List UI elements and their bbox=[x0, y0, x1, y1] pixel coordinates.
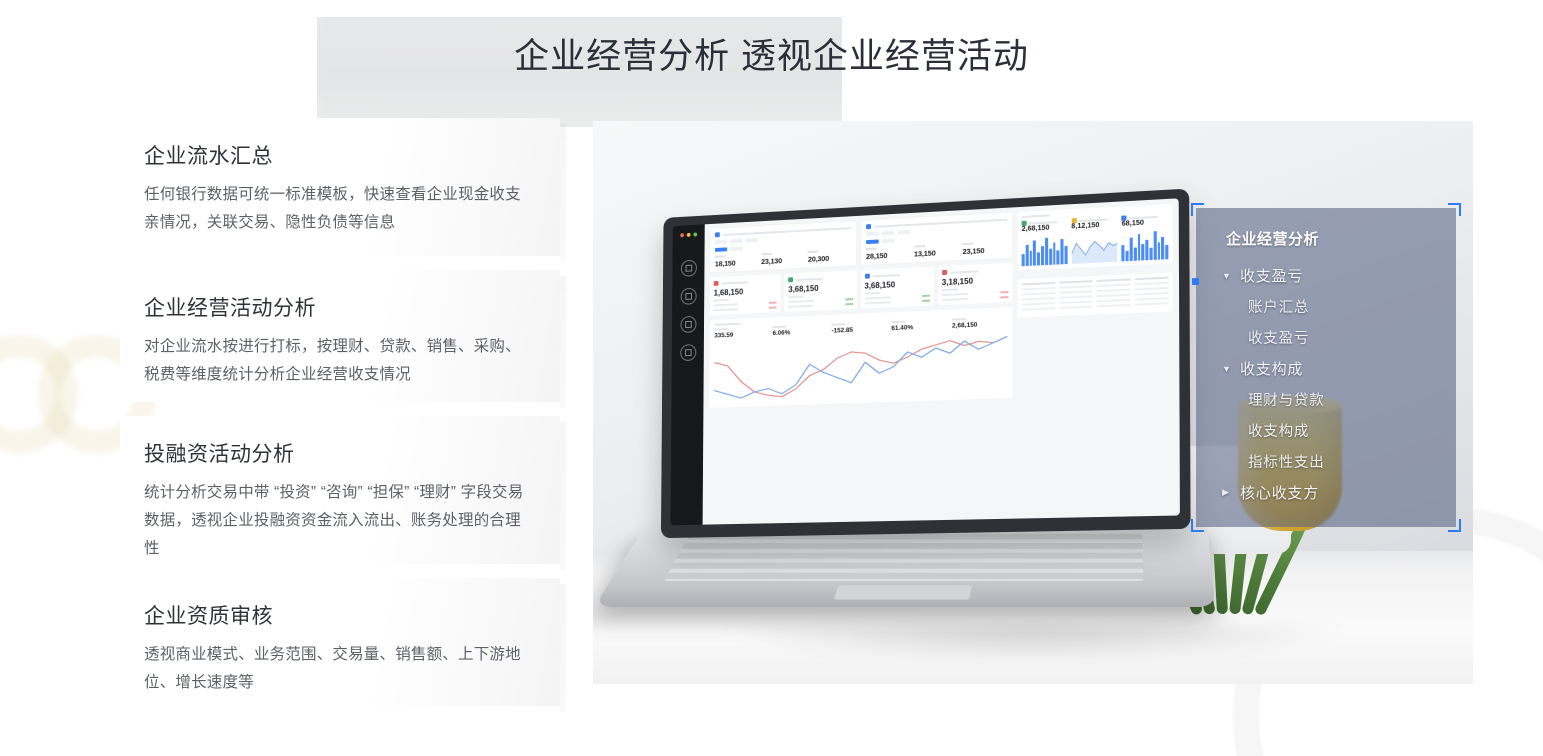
feature-card-title: 企业流水汇总 bbox=[144, 140, 536, 170]
mini-card-value: 2,68,150 bbox=[1022, 224, 1068, 233]
page-root: 企业经营分析 透视企业经营活动 企业流水汇总 任何银行数据可统一标准模板，快速查… bbox=[0, 0, 1543, 756]
metric-card[interactable]: 3,68,150 bbox=[860, 266, 933, 308]
resize-handle-top-left[interactable] bbox=[1191, 203, 1204, 216]
dashboard-icon[interactable] bbox=[680, 260, 696, 277]
menu-item[interactable]: 指标性支出 bbox=[1222, 446, 1446, 477]
sparkline-area bbox=[1071, 231, 1117, 264]
dashboard-body: 18,150 23,130 20,300 bbox=[703, 198, 1180, 524]
menu-item-label: 指标性支出 bbox=[1248, 451, 1325, 472]
metric-card-value: 1,68,150 bbox=[714, 286, 777, 298]
feature-card-desc: 任何银行数据可统一标准模板，快速查看企业现金收支亲情况，关联交易、隐性负债等信息 bbox=[144, 181, 536, 237]
menu-item-label: 收支盈亏 bbox=[1240, 265, 1303, 286]
laptop-trackpad bbox=[834, 585, 972, 599]
summary-metric: 335.59 bbox=[714, 326, 766, 339]
feature-card[interactable]: 投融资活动分析 统计分析交易中带 “投资” “咨询” “担保” “理财” 字段交… bbox=[120, 416, 560, 564]
feature-card-list: 企业流水汇总 任何银行数据可统一标准模板，快速查看企业现金收支亲情况，关联交易、… bbox=[120, 118, 560, 720]
chevron-right-icon[interactable]: ▶ bbox=[1222, 487, 1232, 498]
overlay-title: 企业经营分析 bbox=[1226, 228, 1319, 249]
mini-card-value: 8,12,150 bbox=[1071, 221, 1117, 231]
feature-card-title: 企业经营活动分析 bbox=[144, 292, 536, 322]
menu-item-label: 核心收支方 bbox=[1240, 482, 1319, 503]
gear-icon[interactable] bbox=[680, 344, 696, 361]
menu-item-label: 收支构成 bbox=[1240, 358, 1303, 379]
overlay-menu-list: ▼ 收支盈亏 账户汇总 收支盈亏 ▼ 收支构成 理财与贷款 收支构成 指标性支出 bbox=[1222, 260, 1446, 508]
metric-card-value: 3,68,150 bbox=[788, 282, 852, 294]
close-icon[interactable] bbox=[680, 233, 684, 237]
summary-metric-value: -152.85 bbox=[832, 325, 886, 334]
menu-item[interactable]: 收支盈亏 bbox=[1222, 322, 1446, 353]
summary-metric-value: 335.59 bbox=[714, 330, 766, 339]
menu-item[interactable]: 账户汇总 bbox=[1222, 291, 1446, 322]
kpi-value: 13,150 bbox=[914, 247, 959, 258]
menu-item-label: 收支构成 bbox=[1248, 420, 1309, 441]
laptop-screen: 18,150 23,130 20,300 bbox=[670, 198, 1179, 525]
summary-metrics-panel: 335.59 6.06% -152.85 61.40% 2,68,150 bbox=[709, 307, 1012, 408]
page-title: 企业经营分析 透视企业经营活动 bbox=[0, 28, 1543, 79]
desk-shadow bbox=[653, 626, 1413, 678]
sparkline-bars bbox=[1022, 234, 1068, 267]
kpi-item: 18,150 bbox=[715, 254, 758, 269]
mini-card-value: 68,150 bbox=[1122, 218, 1169, 228]
metric-card[interactable]: 1,68,150 bbox=[710, 274, 781, 315]
resize-handle-bottom-left[interactable] bbox=[1191, 519, 1204, 532]
kpi-value: 23,130 bbox=[761, 255, 804, 266]
dashboard-right-column: 2,68,150 8,12,150 bbox=[1018, 204, 1174, 398]
feature-card[interactable]: 企业资质审核 透视商业模式、业务范围、交易量、销售额、上下游地位、增长速度等 bbox=[120, 578, 560, 706]
metric-card-value: 3,18,150 bbox=[942, 275, 1009, 287]
menu-item-group[interactable]: ▶ 核心收支方 bbox=[1222, 477, 1446, 508]
feature-card-desc: 对企业流水按进行打标，按理财、贷款、销售、采购、税费等维度统计分析企业经营收支情… bbox=[144, 333, 536, 389]
menu-item[interactable]: 收支构成 bbox=[1222, 415, 1446, 446]
summary-metric-value: 2,68,150 bbox=[952, 320, 1007, 329]
kpi-panel-right: 28,150 13,150 23,150 bbox=[861, 212, 1012, 265]
mini-card[interactable]: 8,12,150 bbox=[1071, 216, 1117, 264]
feature-card-title: 企业资质审核 bbox=[144, 600, 536, 630]
minimize-icon[interactable] bbox=[687, 233, 691, 237]
menu-item-label: 收支盈亏 bbox=[1248, 327, 1309, 348]
kpi-item: 23,150 bbox=[962, 241, 1007, 256]
sparkline-bars bbox=[1122, 229, 1169, 262]
mini-card[interactable]: 2,68,150 bbox=[1022, 219, 1068, 267]
kpi-value: 18,150 bbox=[715, 257, 758, 268]
report-icon[interactable] bbox=[680, 316, 696, 333]
feature-card-desc: 透视商业模式、业务范围、交易量、销售额、上下游地位、增长速度等 bbox=[144, 641, 536, 697]
kpi-panel-left: 18,150 23,130 20,300 bbox=[710, 221, 856, 273]
metric-card[interactable]: 3,68,150 bbox=[784, 270, 856, 312]
kpi-item: 13,150 bbox=[914, 243, 959, 258]
window-traffic-lights bbox=[680, 232, 697, 237]
data-table-panel bbox=[1018, 272, 1173, 318]
summary-metric-value: 61.40% bbox=[891, 323, 946, 332]
chevron-down-icon[interactable]: ▼ bbox=[1222, 364, 1232, 374]
summary-metric: 61.40% bbox=[891, 319, 946, 332]
menu-item[interactable]: 理财与贷款 bbox=[1222, 384, 1446, 415]
summary-metric: -152.85 bbox=[832, 321, 886, 334]
menu-item-label: 理财与贷款 bbox=[1248, 389, 1325, 410]
mini-card[interactable]: 68,150 bbox=[1122, 213, 1169, 261]
kpi-value: 28,150 bbox=[866, 250, 910, 261]
laptop: 18,150 23,130 20,300 bbox=[621, 203, 1211, 623]
panel-icon bbox=[715, 232, 720, 237]
selected-menu-overlay[interactable]: 企业经营分析 ▼ 收支盈亏 账户汇总 收支盈亏 ▼ 收支构成 理财与贷款 收支构… bbox=[1196, 208, 1456, 527]
kpi-item: 23,130 bbox=[761, 251, 804, 266]
resize-handle-bottom-right[interactable] bbox=[1448, 519, 1461, 532]
metric-card-strip: 1,68,150 3,68,150 bbox=[710, 263, 1013, 316]
menu-item-group[interactable]: ▼ 收支构成 bbox=[1222, 353, 1446, 384]
feature-card-desc: 统计分析交易中带 “投资” “咨询” “担保” “理财” 字段交易数据，透视企业… bbox=[144, 479, 536, 563]
kpi-item: 20,300 bbox=[808, 249, 851, 264]
metric-card-value: 3,68,150 bbox=[864, 279, 929, 291]
feature-card-title: 投融资活动分析 bbox=[144, 438, 536, 468]
laptop-keyboard bbox=[663, 534, 1143, 581]
menu-item-label: 账户汇总 bbox=[1248, 296, 1309, 317]
app-sidebar bbox=[670, 224, 704, 525]
summary-metric: 6.06% bbox=[773, 324, 826, 337]
chevron-down-icon[interactable]: ▼ bbox=[1222, 271, 1232, 281]
analytics-icon[interactable] bbox=[680, 288, 696, 305]
feature-card[interactable]: 企业流水汇总 任何银行数据可统一标准模板，快速查看企业现金收支亲情况，关联交易、… bbox=[120, 118, 560, 256]
resize-handle-top-right[interactable] bbox=[1448, 203, 1461, 216]
trend-line-chart bbox=[714, 331, 1008, 403]
kpi-item: 28,150 bbox=[866, 246, 910, 261]
kpi-value: 23,150 bbox=[962, 245, 1007, 256]
trend-line-chart-svg bbox=[714, 331, 1008, 403]
maximize-icon[interactable] bbox=[693, 232, 697, 236]
metric-card[interactable]: 3,18,150 bbox=[938, 263, 1013, 306]
kpi-value: 20,300 bbox=[808, 253, 851, 264]
resize-handle-left-middle[interactable] bbox=[1192, 278, 1199, 285]
panel-icon bbox=[866, 224, 871, 229]
laptop-lid: 18,150 23,130 20,300 bbox=[661, 189, 1191, 539]
menu-item-group[interactable]: ▼ 收支盈亏 bbox=[1222, 260, 1446, 291]
feature-card[interactable]: 企业经营活动分析 对企业流水按进行打标，按理财、贷款、销售、采购、税费等维度统计… bbox=[120, 270, 560, 402]
summary-metric: 2,68,150 bbox=[952, 316, 1007, 329]
summary-metric-value: 6.06% bbox=[773, 328, 826, 337]
mini-card-group: 2,68,150 8,12,150 bbox=[1018, 204, 1173, 271]
